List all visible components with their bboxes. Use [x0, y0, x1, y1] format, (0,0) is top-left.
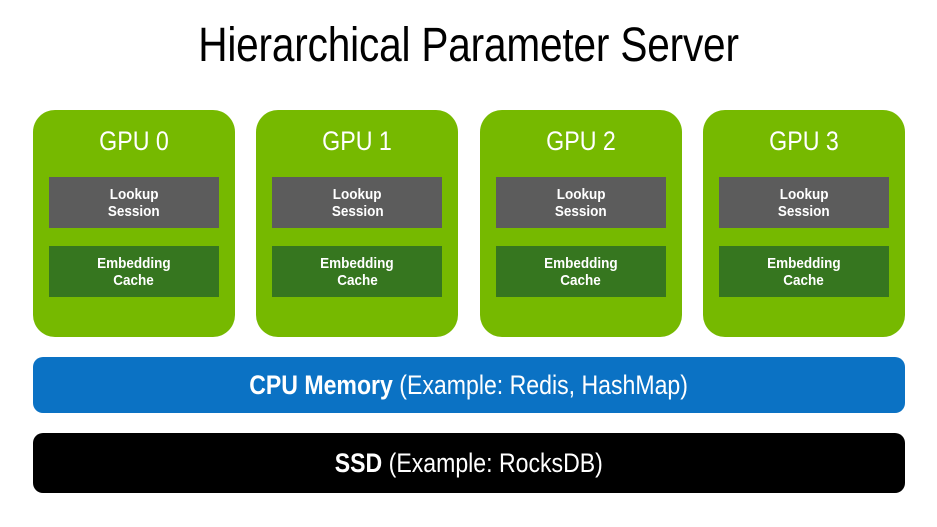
embedding-cache-line1-3: Embedding [767, 255, 841, 272]
gpu-card-0: GPU 0 Lookup Session Embedding Cache [33, 110, 235, 337]
lookup-session-line1-3: Lookup [780, 186, 829, 203]
cpu-memory-name: CPU Memory [250, 370, 394, 400]
embedding-cache-box-1: Embedding Cache [272, 246, 442, 297]
page-title: Hierarchical Parameter Server [73, 17, 865, 75]
lookup-session-line1-1: Lookup [333, 186, 382, 203]
embedding-cache-box-2: Embedding Cache [496, 246, 666, 297]
gpu-card-title-1: GPU 1 [270, 125, 444, 157]
gpu-card-3: GPU 3 Lookup Session Embedding Cache [703, 110, 905, 337]
cpu-memory-detail: (Example: Redis, HashMap) [393, 370, 688, 400]
lookup-session-box-2: Lookup Session [496, 177, 666, 228]
ssd-label: SSD (Example: RocksDB) [335, 448, 603, 478]
cpu-memory-layer-bar: CPU Memory (Example: Redis, HashMap) [33, 357, 905, 413]
lookup-session-line2-1: Session [331, 203, 383, 220]
lookup-session-box-1: Lookup Session [272, 177, 442, 228]
gpu-card-1: GPU 1 Lookup Session Embedding Cache [256, 110, 458, 337]
lookup-session-line2-0: Session [108, 203, 160, 220]
embedding-cache-box-3: Embedding Cache [719, 246, 889, 297]
embedding-cache-line2-1: Cache [337, 272, 378, 289]
ssd-detail: (Example: RocksDB) [382, 448, 603, 478]
gpu-row: GPU 0 Lookup Session Embedding Cache GPU… [33, 110, 905, 337]
embedding-cache-line2-0: Cache [114, 272, 155, 289]
lookup-session-line2-2: Session [555, 203, 607, 220]
lookup-session-box-0: Lookup Session [49, 177, 219, 228]
embedding-cache-line1-0: Embedding [97, 255, 171, 272]
gpu-card-title-3: GPU 3 [717, 125, 891, 157]
embedding-cache-line2-3: Cache [784, 272, 825, 289]
embedding-cache-line1-2: Embedding [544, 255, 618, 272]
ssd-name: SSD [335, 448, 382, 478]
embedding-cache-box-0: Embedding Cache [49, 246, 219, 297]
gpu-card-title-0: GPU 0 [47, 125, 221, 157]
hierarchical-parameter-server-diagram: Hierarchical Parameter Server GPU 0 Look… [0, 0, 937, 527]
embedding-cache-line2-2: Cache [560, 272, 601, 289]
lookup-session-line2-3: Session [778, 203, 830, 220]
gpu-card-2: GPU 2 Lookup Session Embedding Cache [480, 110, 682, 337]
gpu-card-title-2: GPU 2 [494, 125, 668, 157]
ssd-layer-bar: SSD (Example: RocksDB) [33, 433, 905, 493]
lookup-session-line1-2: Lookup [556, 186, 605, 203]
lookup-session-line1-0: Lookup [110, 186, 159, 203]
embedding-cache-line1-1: Embedding [321, 255, 395, 272]
cpu-memory-label: CPU Memory (Example: Redis, HashMap) [250, 370, 689, 400]
lookup-session-box-3: Lookup Session [719, 177, 889, 228]
